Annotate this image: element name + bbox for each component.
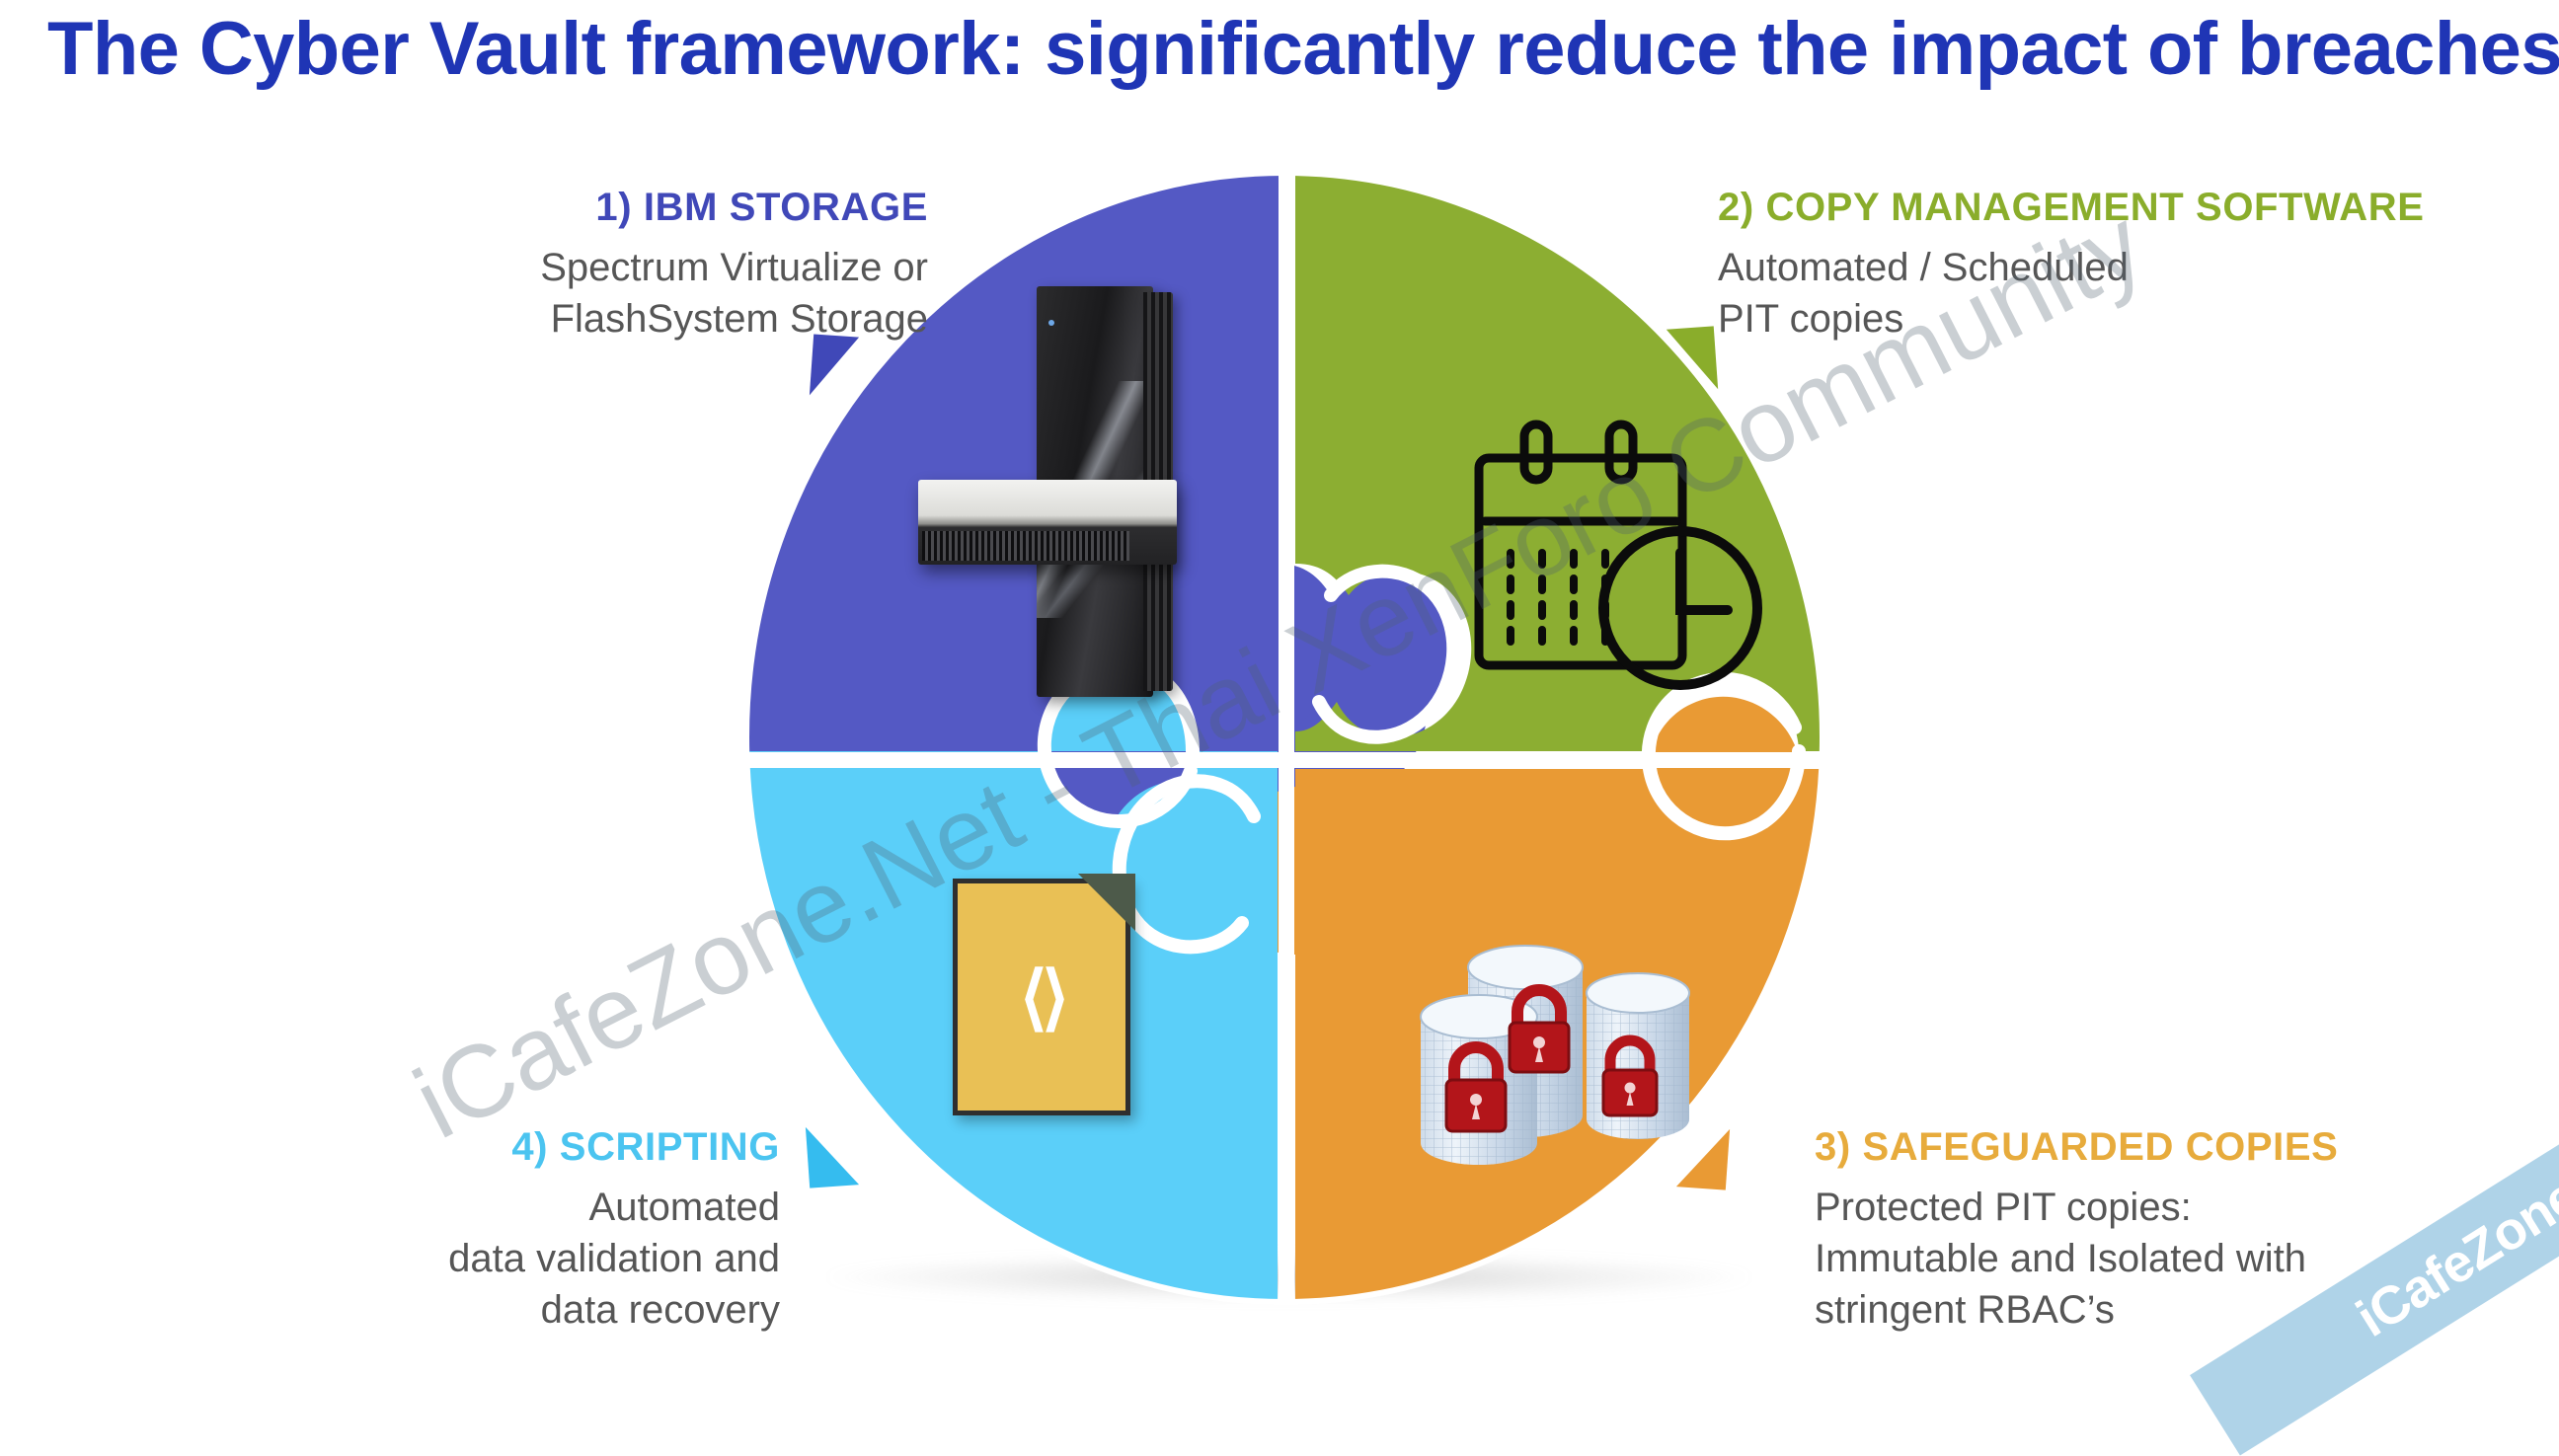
pointer-triangle-safeguarded-copies — [1676, 1125, 1730, 1189]
quadrant-label-scripting: 4) SCRIPTING Automated data validation a… — [316, 1125, 780, 1336]
quadrant-2-heading: 2) COPY MANAGEMENT SOFTWARE — [1718, 186, 2547, 230]
quadrant-4-body: Automated data validation and data recov… — [316, 1182, 780, 1336]
cyber-vault-puzzle-diagram: ⟨⟩ — [0, 0, 2559, 1348]
quadrant-2-body-line-1: Automated / Scheduled — [1718, 242, 2547, 293]
pointer-triangle-scripting — [806, 1123, 859, 1188]
quadrant-1-body: Spectrum Virtualize or FlashSystem Stora… — [316, 242, 928, 345]
quadrant-1-heading: 1) IBM STORAGE — [316, 186, 928, 230]
quadrant-4-body-line-1: Automated — [316, 1182, 780, 1233]
quadrant-3-body-line-1: Protected PIT copies: — [1815, 1182, 2545, 1233]
quadrant-4-heading: 4) SCRIPTING — [316, 1125, 780, 1170]
quadrant-3-heading: 3) SAFEGUARDED COPIES — [1815, 1125, 2545, 1170]
locked-database-icon — [1407, 898, 1703, 1175]
quadrant-4-body-line-3: data recovery — [316, 1284, 780, 1336]
quadrant-2-body-line-2: PIT copies — [1718, 293, 2547, 345]
calendar-clock-icon — [1471, 415, 1767, 701]
quadrant-3-body-line-3: stringent RBAC’s — [1815, 1284, 2545, 1336]
quadrant-1-body-line-1: Spectrum Virtualize or — [316, 242, 928, 293]
quadrant-2-body: Automated / Scheduled PIT copies — [1718, 242, 2547, 345]
quadrant-4-body-line-2: data validation and — [316, 1233, 780, 1284]
code-document-icon: ⟨⟩ — [953, 879, 1130, 1115]
quadrant-3-body: Protected PIT copies: Immutable and Isol… — [1815, 1182, 2545, 1336]
quadrant-label-ibm-storage: 1) IBM STORAGE Spectrum Virtualize or Fl… — [316, 186, 928, 345]
storage-hardware-icon — [918, 286, 1214, 701]
quadrant-label-copy-management-software: 2) COPY MANAGEMENT SOFTWARE Automated / … — [1718, 186, 2547, 345]
quadrant-3-body-line-2: Immutable and Isolated with — [1815, 1233, 2545, 1284]
quadrant-1-body-line-2: FlashSystem Storage — [316, 293, 928, 345]
pointer-triangle-copy-management — [1667, 326, 1718, 392]
quadrant-label-safeguarded-copies: 3) SAFEGUARDED COPIES Protected PIT copi… — [1815, 1125, 2545, 1336]
